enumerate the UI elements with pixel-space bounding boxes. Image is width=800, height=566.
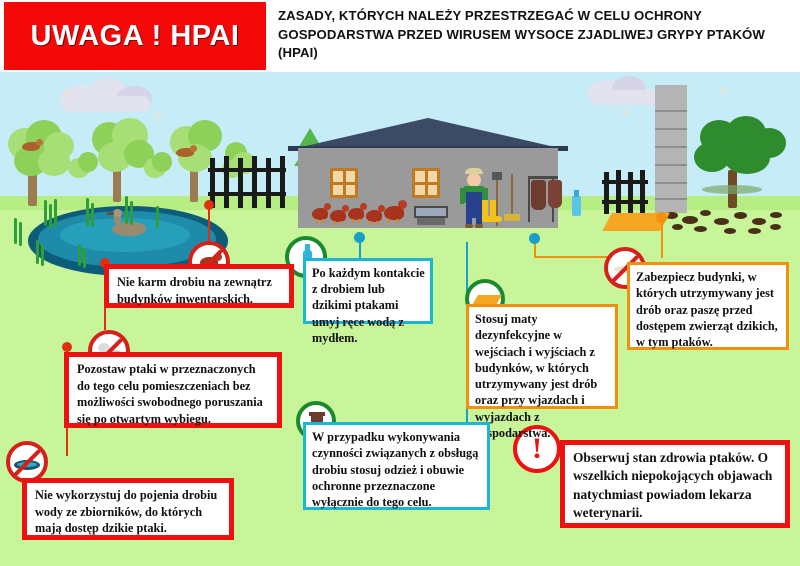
wild-bird-flying-3: ❄	[620, 106, 631, 119]
poster-header: UWAGA ! HPAI ZASADY, KTÓRYCH NALEŻY PRZE…	[0, 0, 800, 72]
callout-no-outdoor-feeding-text: Nie karm drobiu na zewnątrz budynków inw…	[109, 269, 289, 307]
callout-monitor-health-text: Obserwuj stan zdrowia ptaków. O wszelkic…	[565, 445, 785, 523]
callout-protective-clothing-text: W przypadku wykonywania czynności związa…	[306, 425, 487, 510]
no-pond-water-icon	[6, 441, 48, 483]
barn-window-1	[330, 168, 358, 198]
barn-window-2	[412, 168, 440, 198]
connector-dot-6	[656, 212, 667, 223]
callout-protective-clothing: W przypadku wykonywania czynności związa…	[303, 422, 490, 510]
callout-secure-buildings: Zabezpiecz budynki, w których utrzymywan…	[627, 262, 789, 350]
connector-dot-4	[354, 232, 365, 243]
alert-banner-label: UWAGA ! HPAI	[31, 20, 240, 53]
connector-no-outdoor-feeding	[208, 205, 210, 241]
callout-no-surface-water: Nie wykorzystuj do pojenia drobiu wody z…	[22, 478, 234, 540]
wild-bird-flying-4: ❄	[718, 84, 729, 97]
connector-dot-5	[529, 233, 540, 244]
callout-wash-hands: Po każdym kontakcie z drobiem lub dzikim…	[303, 258, 433, 324]
callout-monitor-health: Obserwuj stan zdrowia ptaków. O wszelkic…	[560, 440, 790, 528]
connector-dot-1	[204, 200, 214, 210]
infographic-poster: UWAGA ! HPAI ZASADY, KTÓRYCH NALEŻY PRZE…	[0, 0, 800, 566]
callout-disinfection-mats-text: Stosuj maty dezynfekcyjne w wejściach i …	[469, 307, 615, 441]
callout-secure-buildings-text: Zabezpiecz budynki, w których utrzymywan…	[630, 265, 786, 350]
callout-no-outdoor-feeding: Nie karm drobiu na zewnątrz budynków inw…	[104, 264, 294, 308]
callout-keep-birds-indoors: Pozostaw ptaki w przeznaczonych do tego …	[64, 352, 282, 428]
alert-banner: UWAGA ! HPAI	[4, 2, 266, 70]
callout-no-surface-water-text: Nie wykorzystuj do pojenia drobiu wody z…	[27, 483, 229, 537]
wild-bird-flying-2: ❄	[152, 110, 163, 123]
poster-title: ZASADY, KTÓRYCH NALEŻY PRZESTRZEGAĆ W CE…	[278, 7, 788, 63]
wild-bird-flying-1: ❄	[62, 88, 73, 101]
callout-disinfection-mats: Stosuj maty dezynfekcyjne w wejściach i …	[466, 304, 618, 409]
callout-keep-birds-indoors-text: Pozostaw ptaki w przeznaczonych do tego …	[69, 357, 277, 428]
callout-wash-hands-text: Po każdym kontakcie z drobiem lub dzikim…	[306, 261, 430, 346]
connector-dot-3	[62, 342, 72, 352]
